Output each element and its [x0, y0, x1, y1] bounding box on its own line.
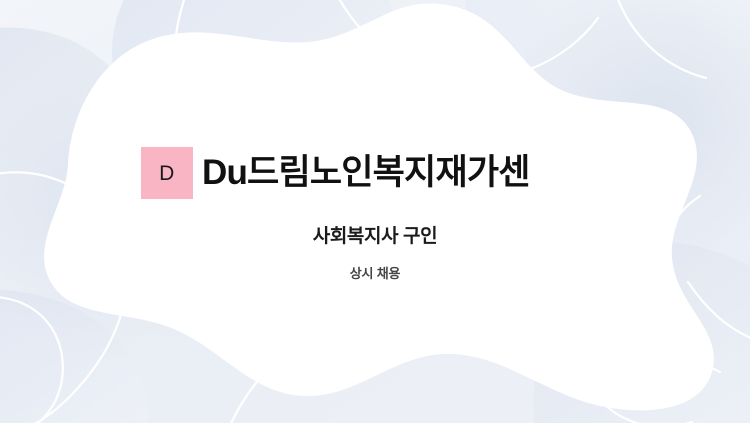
brand-badge-letter: D — [159, 163, 175, 184]
brand-title-row: D Du드림노인복지재가센 — [141, 147, 741, 199]
brand-badge: D — [141, 147, 193, 199]
hiring-period-label: 상시 채용 — [0, 266, 750, 282]
poster-content: D Du드림노인복지재가센 사회복지사 구인 상시 채용 — [0, 0, 750, 423]
job-posting-card: D Du드림노인복지재가센 사회복지사 구인 상시 채용 — [0, 0, 750, 423]
organization-name: Du드림노인복지재가센 — [202, 147, 530, 199]
job-title: 사회복지사 구인 — [0, 226, 750, 249]
